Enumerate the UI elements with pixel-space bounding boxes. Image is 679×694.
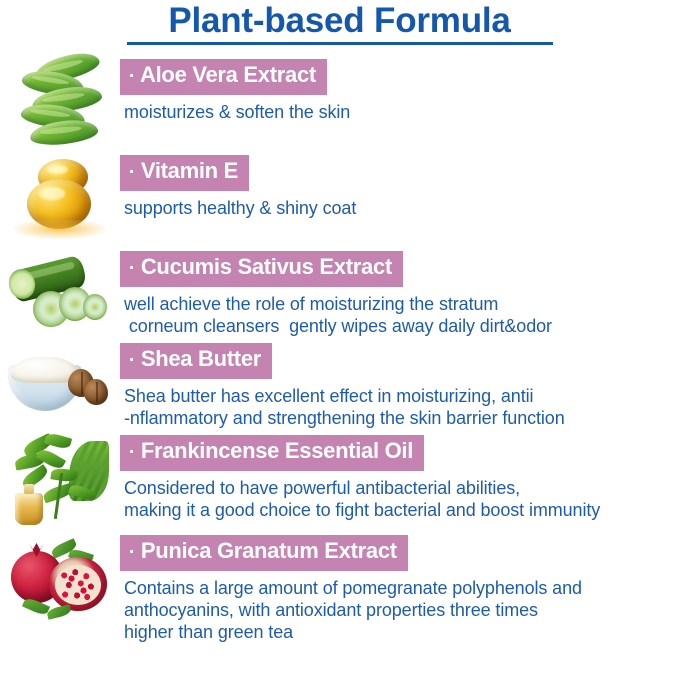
title-underline-rule [127,42,553,45]
ingredient-description: Contains a large amount of pomegranate p… [124,577,679,643]
bullet-icon: · [129,162,135,183]
ingredient-description: well achieve the role of moisturizing th… [124,293,679,337]
ingredient-text-cell: · Shea Butter Shea butter has excellent … [120,339,679,429]
ingredient-name: Vitamin E [141,158,238,183]
description-line: corneum cleansers gently wipes away dail… [124,315,679,337]
description-line: making it a good choice to fight bacteri… [124,499,679,521]
cucumber-slices-image [7,247,113,339]
bullet-icon: · [129,258,135,279]
ingredient-description: moisturizes & soften the skin [124,101,679,123]
bullet-icon: · [129,66,135,87]
ingredient-row-aloe-vera: · Aloe Vera Extract moisturizes & soften… [0,55,679,151]
header: Plant-based Formula [0,0,679,45]
cucumber-slice [83,294,107,320]
ingredient-row-cucumis-sativus: · Cucumis Sativus Extract well achieve t… [0,247,679,339]
ingredient-row-frankincense: · Frankincense Essential Oil Considered … [0,431,679,531]
essential-oil-bottle [15,493,43,525]
description-line: Contains a large amount of pomegranate p… [124,577,679,599]
aloe-vera-slices-image [8,55,112,151]
bullet-icon: · [129,542,135,563]
ingredient-name: Cucumis Sativus Extract [141,254,392,279]
ingredient-row-punica-granatum: · Punica Granatum Extract Contains a lar… [0,531,679,643]
vitamin-e-capsules-image [8,151,112,247]
ingredient-thumb-cell [0,531,120,631]
pomegranate-arils [55,565,101,605]
capsule-glow [14,219,106,239]
shea-butter-bowl-image [6,339,114,431]
ingredient-thumb-cell [0,55,120,151]
description-line: Shea butter has excellent effect in mois… [124,385,679,407]
bullet-icon: · [129,442,135,463]
ingredient-description: supports healthy & shiny coat [124,197,679,219]
ingredient-list: · Aloe Vera Extract moisturizes & soften… [0,55,679,643]
ingredient-thumb-cell [0,151,120,247]
ingredient-description: Shea butter has excellent effect in mois… [124,385,679,429]
ingredient-text-cell: · Punica Granatum Extract Contains a lar… [120,531,679,643]
bullet-icon: · [129,350,135,371]
ingredient-text-cell: · Vitamin E supports healthy & shiny coa… [120,151,679,219]
ingredient-row-shea-butter: · Shea Butter Shea butter has excellent … [0,339,679,431]
description-line: higher than green tea [124,621,679,643]
shea-nut [84,379,108,405]
page-title: Plant-based Formula [0,2,679,40]
ingredient-thumb-cell [0,247,120,339]
frankincense-plant-oil-image [7,431,113,531]
ingredient-thumb-cell [0,431,120,531]
ingredient-name-band: · Vitamin E [120,155,249,191]
description-line: Considered to have powerful antibacteria… [124,477,679,499]
leaf [44,432,72,451]
description-line: well achieve the role of moisturizing th… [124,293,679,315]
ingredient-description: Considered to have powerful antibacteria… [124,477,679,521]
pomegranate-image [7,531,113,631]
ingredient-name-band: · Shea Butter [120,343,272,379]
ingredient-name-band: · Frankincense Essential Oil [120,435,424,471]
ingredient-name: Shea Butter [141,346,261,371]
ingredient-name: Aloe Vera Extract [140,62,316,87]
ingredient-name: Punica Granatum Extract [141,538,397,563]
ingredient-text-cell: · Frankincense Essential Oil Considered … [120,431,679,521]
ingredient-name-band: · Aloe Vera Extract [120,59,327,95]
ingredient-thumb-cell [0,339,120,431]
ingredient-text-cell: · Cucumis Sativus Extract well achieve t… [120,247,679,337]
ingredient-row-vitamin-e: · Vitamin E supports healthy & shiny coa… [0,151,679,247]
ingredient-text-cell: · Aloe Vera Extract moisturizes & soften… [120,55,679,123]
halved-pomegranate [49,557,107,611]
description-line: anthocyanins, with antioxidant propertie… [124,599,679,621]
description-line: supports healthy & shiny coat [124,197,679,219]
ingredient-name-band: · Cucumis Sativus Extract [120,251,403,287]
description-line: moisturizes & soften the skin [124,101,679,123]
description-line: -nflammatory and strengthening the skin … [124,407,679,429]
ingredient-name: Frankincense Essential Oil [141,438,413,463]
ingredient-name-band: · Punica Granatum Extract [120,535,408,571]
